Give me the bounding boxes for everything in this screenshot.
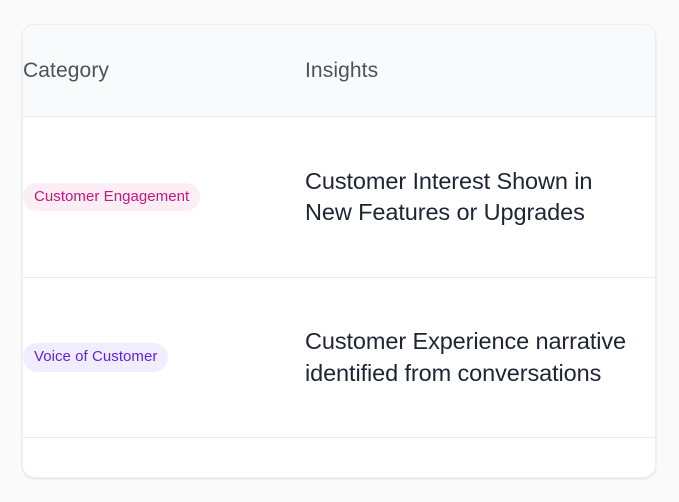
column-header-category[interactable]: Category (23, 25, 305, 117)
table-row[interactable] (23, 438, 656, 479)
table-header: Category Insights (23, 25, 656, 117)
table-header-row: Category Insights (23, 25, 656, 117)
cell-category (23, 438, 305, 479)
status-badge[interactable]: Voice of Customer (23, 343, 168, 372)
cell-insights (305, 438, 656, 479)
table-body: Customer Engagement Customer Interest Sh… (23, 117, 656, 479)
insights-table-card: Category Insights Customer Engagement Cu… (22, 24, 656, 478)
cell-category: Voice of Customer (23, 278, 305, 438)
insights-table: Category Insights Customer Engagement Cu… (23, 25, 656, 478)
table-row[interactable]: Voice of Customer Customer Experience na… (23, 278, 656, 438)
page-canvas: Category Insights Customer Engagement Cu… (0, 0, 679, 502)
table-row[interactable]: Customer Engagement Customer Interest Sh… (23, 117, 656, 278)
cell-insights: Customer Interest Shown in New Features … (305, 117, 656, 278)
status-badge[interactable]: Customer Engagement (23, 183, 200, 212)
insight-text: Customer Experience narrative identified… (305, 326, 635, 389)
cell-insights: Customer Experience narrative identified… (305, 278, 656, 438)
insight-text: Customer Interest Shown in New Features … (305, 166, 635, 229)
cell-category: Customer Engagement (23, 117, 305, 278)
column-header-insights[interactable]: Insights (305, 25, 656, 117)
